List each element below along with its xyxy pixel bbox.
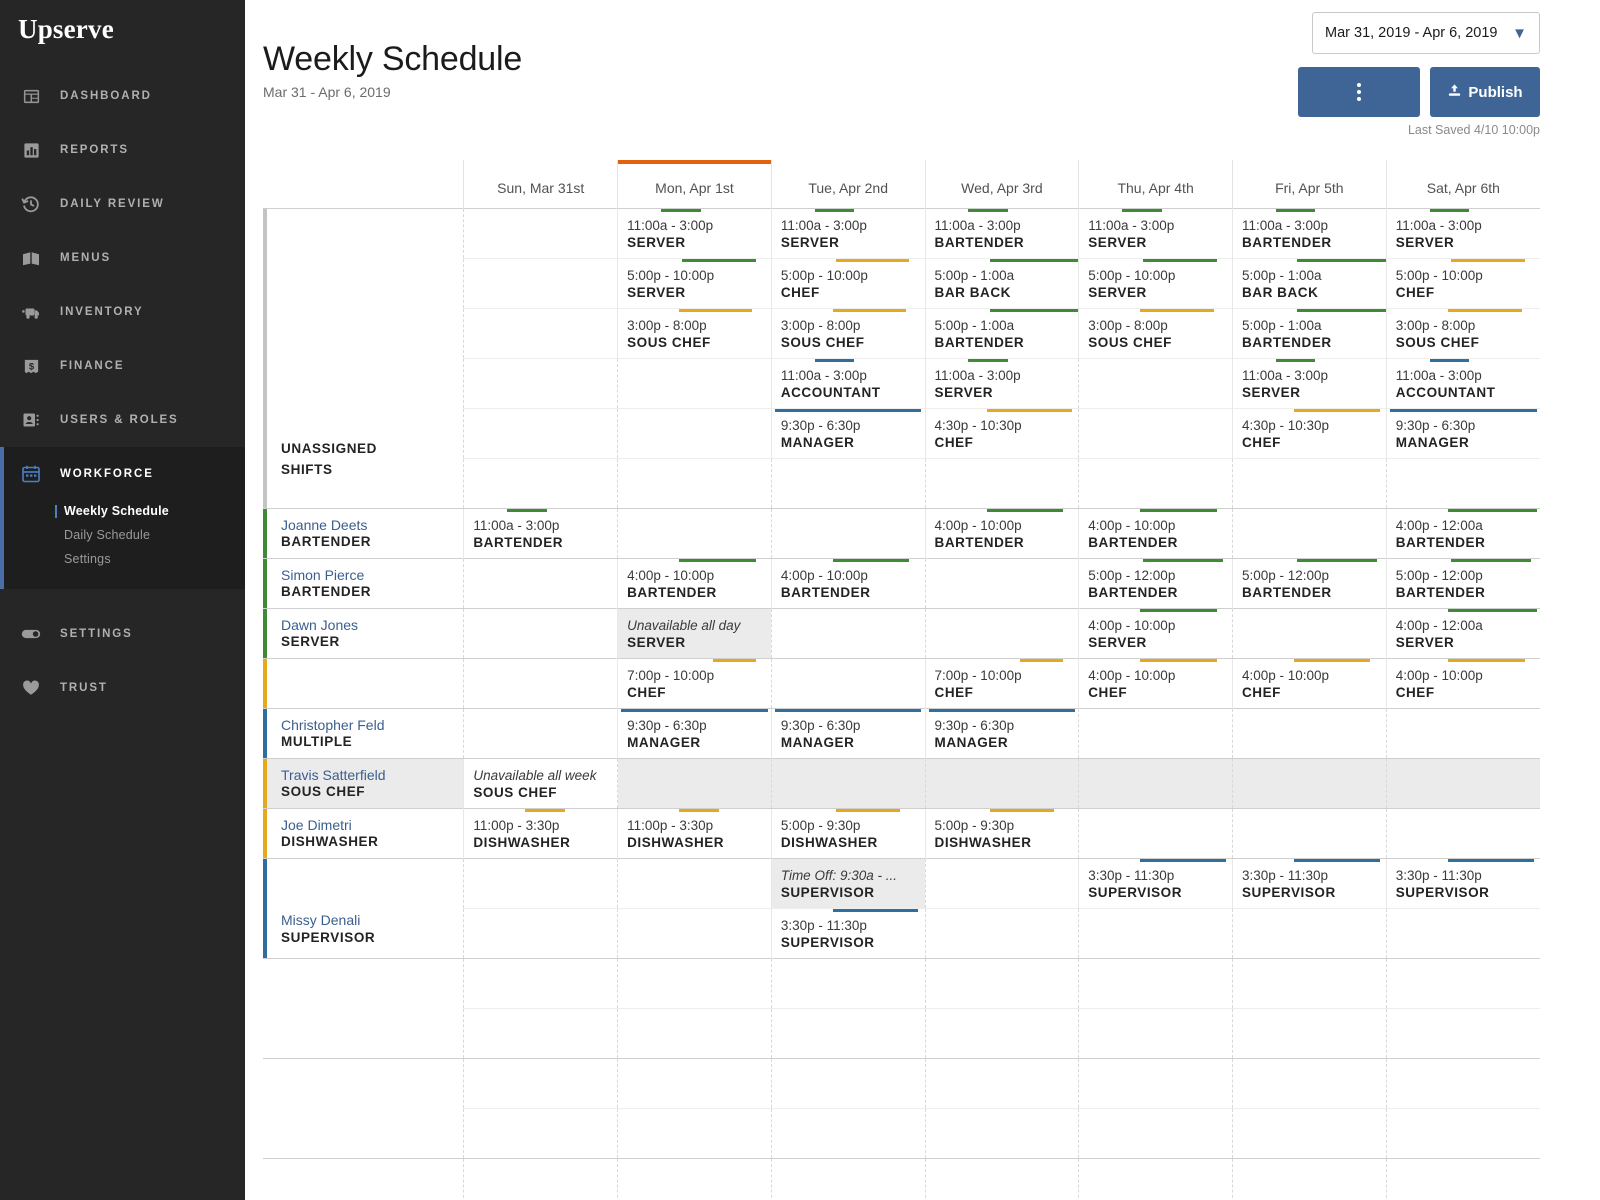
schedule-cell[interactable] <box>925 1158 1079 1200</box>
employee-name[interactable]: Christopher Feld <box>281 717 463 734</box>
schedule-cell[interactable] <box>925 958 1079 1008</box>
employee-name[interactable]: Simon Pierce <box>281 567 463 584</box>
employee-name[interactable]: Travis Satterfield <box>281 767 463 784</box>
empty-cell[interactable] <box>618 759 771 808</box>
empty-cell[interactable] <box>618 959 771 1008</box>
schedule-cell[interactable] <box>1232 708 1386 758</box>
time-off-block[interactable]: Unavailable all weekSOUS CHEF <box>464 759 617 808</box>
schedule-cell[interactable] <box>1079 808 1233 858</box>
schedule-cell[interactable]: 11:00a - 3:00pSERVER <box>1232 358 1386 408</box>
shift-block[interactable]: 7:00p - 10:00pCHEF <box>926 659 1079 708</box>
empty-cell[interactable] <box>1387 1009 1540 1058</box>
schedule-cell[interactable] <box>925 1108 1079 1158</box>
schedule-cell[interactable] <box>1232 808 1386 858</box>
shift-block[interactable]: 4:00p - 10:00pBARTENDER <box>926 509 1079 558</box>
empty-cell[interactable] <box>1387 1109 1540 1158</box>
empty-cell[interactable] <box>1387 1059 1540 1108</box>
shift-block[interactable]: 11:00a - 3:00pBARTENDER <box>1233 209 1386 258</box>
empty-cell[interactable] <box>1233 909 1386 958</box>
schedule-cell[interactable] <box>771 1158 925 1200</box>
shift-block[interactable]: 9:30p - 6:30pMANAGER <box>618 709 771 758</box>
schedule-cell[interactable] <box>464 458 618 508</box>
schedule-cell[interactable]: 5:00p - 1:00aBARTENDER <box>1232 308 1386 358</box>
schedule-cell[interactable] <box>1386 1058 1540 1108</box>
schedule-cell[interactable] <box>464 858 618 908</box>
schedule-cell[interactable] <box>1079 358 1233 408</box>
empty-cell[interactable] <box>926 859 1079 908</box>
empty-cell[interactable] <box>1233 1009 1386 1058</box>
empty-cell[interactable] <box>1079 359 1232 408</box>
schedule-cell[interactable] <box>464 908 618 958</box>
schedule-cell[interactable]: 5:00p - 1:00aBARTENDER <box>925 308 1079 358</box>
shift-block[interactable]: 3:30p - 11:30pSUPERVISOR <box>772 909 925 958</box>
sidebar-item-finance[interactable]: $FINANCE <box>0 339 245 393</box>
schedule-cell[interactable]: 3:30p - 11:30pSUPERVISOR <box>771 908 925 958</box>
shift-block[interactable]: 5:00p - 12:00pBARTENDER <box>1387 559 1540 608</box>
empty-cell[interactable] <box>464 409 617 458</box>
shift-block[interactable]: 11:00a - 3:00pACCOUNTANT <box>772 359 925 408</box>
schedule-cell[interactable] <box>1232 458 1386 508</box>
time-off-block[interactable]: Unavailable all daySERVER <box>618 609 771 658</box>
schedule-cell[interactable]: 4:00p - 10:00pCHEF <box>1079 658 1233 708</box>
sidebar-item-trust[interactable]: TRUST <box>0 661 245 715</box>
empty-cell[interactable] <box>772 959 925 1008</box>
empty-cell[interactable] <box>618 1159 771 1200</box>
schedule-cell[interactable] <box>1079 1058 1233 1108</box>
empty-cell[interactable] <box>464 359 617 408</box>
shift-block[interactable]: 5:00p - 12:00pBARTENDER <box>1233 559 1386 608</box>
schedule-cell[interactable] <box>1079 708 1233 758</box>
schedule-cell[interactable]: 4:30p - 10:30pCHEF <box>925 408 1079 458</box>
sidebar-item-settings[interactable]: SETTINGS <box>0 607 245 661</box>
sidebar-item-dashboard[interactable]: DASHBOARD <box>0 69 245 123</box>
sidebar-item-menus[interactable]: MENUS <box>0 231 245 285</box>
empty-cell[interactable] <box>1233 1059 1386 1108</box>
empty-cell[interactable] <box>464 959 617 1008</box>
empty-cell[interactable] <box>1233 1159 1386 1200</box>
empty-cell[interactable] <box>772 1059 925 1108</box>
schedule-cell[interactable]: 11:00a - 3:00pBARTENDER <box>925 208 1079 258</box>
schedule-cell[interactable] <box>618 458 772 508</box>
date-range-select[interactable]: Mar 31, 2019 - Apr 6, 2019 ▼ <box>1312 12 1540 54</box>
empty-cell[interactable] <box>1079 759 1232 808</box>
schedule-cell[interactable]: 3:00p - 8:00pSOUS CHEF <box>618 308 772 358</box>
empty-cell[interactable] <box>618 1009 771 1058</box>
schedule-cell[interactable]: 11:00a - 3:00pSERVER <box>925 358 1079 408</box>
empty-cell[interactable] <box>1387 909 1540 958</box>
empty-cell[interactable] <box>772 759 925 808</box>
empty-cell[interactable] <box>1233 1109 1386 1158</box>
schedule-cell[interactable] <box>925 458 1079 508</box>
shift-block[interactable]: 5:00p - 1:00aBAR BACK <box>1233 259 1386 308</box>
sidebar-item-daily-review[interactable]: DAILY REVIEW <box>0 177 245 231</box>
schedule-cell[interactable] <box>925 608 1079 658</box>
empty-cell[interactable] <box>1079 1159 1232 1200</box>
shift-block[interactable]: 4:00p - 12:00aBARTENDER <box>1387 509 1540 558</box>
sidebar-item-users-roles[interactable]: USERS & ROLES <box>0 393 245 447</box>
empty-cell[interactable] <box>772 459 925 508</box>
shift-block[interactable]: 4:30p - 10:30pCHEF <box>1233 409 1386 458</box>
schedule-cell[interactable] <box>925 1008 1079 1058</box>
empty-cell[interactable] <box>1387 1159 1540 1200</box>
schedule-cell[interactable]: 9:30p - 6:30pMANAGER <box>925 708 1079 758</box>
schedule-cell[interactable] <box>464 408 618 458</box>
schedule-cell[interactable] <box>1232 1108 1386 1158</box>
empty-cell[interactable] <box>1233 759 1386 808</box>
schedule-cell[interactable]: 5:00p - 10:00pCHEF <box>1386 258 1540 308</box>
publish-button[interactable]: Publish <box>1430 67 1540 117</box>
more-options-button[interactable] <box>1298 67 1420 117</box>
shift-block[interactable]: 9:30p - 6:30pMANAGER <box>772 709 925 758</box>
schedule-cell[interactable]: 5:00p - 9:30pDISHWASHER <box>771 808 925 858</box>
schedule-cell[interactable] <box>1232 608 1386 658</box>
shift-block[interactable]: 4:00p - 10:00pBARTENDER <box>1079 509 1232 558</box>
schedule-cell[interactable] <box>1386 758 1540 808</box>
schedule-cell[interactable] <box>1079 1158 1233 1200</box>
empty-cell[interactable] <box>464 559 617 608</box>
schedule-cell[interactable] <box>1386 1108 1540 1158</box>
schedule-cell[interactable] <box>1232 758 1386 808</box>
shift-block[interactable]: 3:00p - 8:00pSOUS CHEF <box>1387 309 1540 358</box>
empty-cell[interactable] <box>464 1059 617 1108</box>
empty-cell[interactable] <box>772 609 925 658</box>
shift-block[interactable]: 11:00a - 3:00pSERVER <box>772 209 925 258</box>
schedule-cell[interactable] <box>771 758 925 808</box>
schedule-cell[interactable] <box>925 858 1079 908</box>
schedule-cell[interactable]: 11:00a - 3:00pSERVER <box>771 208 925 258</box>
empty-cell[interactable] <box>464 609 617 658</box>
empty-cell[interactable] <box>926 909 1079 958</box>
schedule-cell[interactable] <box>1232 908 1386 958</box>
empty-cell[interactable] <box>772 659 925 708</box>
schedule-cell[interactable] <box>771 958 925 1008</box>
schedule-cell[interactable] <box>618 358 772 408</box>
empty-cell[interactable] <box>618 359 771 408</box>
schedule-cell[interactable] <box>464 1108 618 1158</box>
schedule-cell[interactable] <box>618 908 772 958</box>
employee-name[interactable]: Missy Denali <box>281 912 463 929</box>
shift-block[interactable]: 5:00p - 10:00pCHEF <box>1387 259 1540 308</box>
empty-cell[interactable] <box>772 1159 925 1200</box>
schedule-cell[interactable] <box>464 358 618 408</box>
schedule-cell[interactable]: 9:30p - 6:30pMANAGER <box>771 708 925 758</box>
sidebar-subitem-daily-schedule[interactable]: Daily Schedule <box>64 525 245 549</box>
shift-block[interactable]: 5:00p - 10:00pSERVER <box>618 259 771 308</box>
empty-cell[interactable] <box>772 1009 925 1058</box>
empty-cell[interactable] <box>464 859 617 908</box>
empty-cell[interactable] <box>464 909 617 958</box>
shift-block[interactable]: 5:00p - 1:00aBAR BACK <box>926 259 1079 308</box>
shift-block[interactable]: 4:00p - 10:00pBARTENDER <box>618 559 771 608</box>
shift-block[interactable]: 4:30p - 10:30pCHEF <box>926 409 1079 458</box>
schedule-cell[interactable] <box>464 1008 618 1058</box>
schedule-cell[interactable]: 4:00p - 10:00pSERVER <box>1079 608 1233 658</box>
schedule-cell[interactable] <box>464 708 618 758</box>
schedule-cell[interactable]: 11:00a - 3:00pSERVER <box>618 208 772 258</box>
schedule-cell[interactable] <box>618 858 772 908</box>
schedule-cell[interactable]: 7:00p - 10:00pCHEF <box>925 658 1079 708</box>
shift-block[interactable]: 11:00a - 3:00pSERVER <box>1079 209 1232 258</box>
shift-block[interactable]: 5:00p - 10:00pCHEF <box>772 259 925 308</box>
empty-cell[interactable] <box>926 559 1079 608</box>
schedule-cell[interactable]: 3:30p - 11:30pSUPERVISOR <box>1079 858 1233 908</box>
empty-cell[interactable] <box>464 1009 617 1058</box>
schedule-cell[interactable] <box>618 958 772 1008</box>
schedule-cell[interactable]: 4:30p - 10:30pCHEF <box>1232 408 1386 458</box>
schedule-cell[interactable] <box>771 508 925 558</box>
schedule-cell[interactable] <box>1079 408 1233 458</box>
empty-cell[interactable] <box>1233 959 1386 1008</box>
employee-name[interactable]: Dawn Jones <box>281 617 463 634</box>
schedule-cell[interactable] <box>464 208 618 258</box>
shift-block[interactable]: 3:30p - 11:30pSUPERVISOR <box>1079 859 1232 908</box>
shift-block[interactable]: 11:00a - 3:00pACCOUNTANT <box>1387 359 1540 408</box>
empty-cell[interactable] <box>1079 959 1232 1008</box>
shift-block[interactable]: 11:00a - 3:00pSERVER <box>618 209 771 258</box>
schedule-cell[interactable]: 5:00p - 10:00pSERVER <box>618 258 772 308</box>
schedule-cell[interactable]: 4:00p - 10:00pBARTENDER <box>1079 508 1233 558</box>
empty-cell[interactable] <box>926 959 1079 1008</box>
schedule-cell[interactable] <box>1386 458 1540 508</box>
empty-cell[interactable] <box>618 409 771 458</box>
shift-block[interactable]: 5:00p - 1:00aBARTENDER <box>926 309 1079 358</box>
shift-block[interactable]: 3:00p - 8:00pSOUS CHEF <box>1079 309 1232 358</box>
employee-name[interactable]: Joanne Deets <box>281 517 463 534</box>
shift-block[interactable]: 3:00p - 8:00pSOUS CHEF <box>618 309 771 358</box>
schedule-cell[interactable] <box>1386 1008 1540 1058</box>
shift-block[interactable]: 11:00a - 3:00pSERVER <box>1387 209 1540 258</box>
empty-cell[interactable] <box>926 459 1079 508</box>
schedule-cell[interactable] <box>1232 508 1386 558</box>
workforce-nav-row[interactable]: WORKFORCE <box>4 447 245 501</box>
sidebar-item-reports[interactable]: REPORTS <box>0 123 245 177</box>
empty-cell[interactable] <box>464 309 617 358</box>
schedule-cell[interactable] <box>1386 708 1540 758</box>
empty-cell[interactable] <box>1387 459 1540 508</box>
empty-cell[interactable] <box>926 759 1079 808</box>
schedule-cell[interactable] <box>618 508 772 558</box>
schedule-cell[interactable] <box>464 258 618 308</box>
empty-cell[interactable] <box>1233 509 1386 558</box>
shift-block[interactable]: 5:00p - 9:30pDISHWASHER <box>926 809 1079 858</box>
empty-cell[interactable] <box>926 1059 1079 1108</box>
schedule-cell[interactable] <box>618 758 772 808</box>
empty-cell[interactable] <box>1233 459 1386 508</box>
sidebar-item-workforce[interactable]: WORKFORCE Weekly ScheduleDaily ScheduleS… <box>0 447 245 589</box>
empty-cell[interactable] <box>1079 809 1232 858</box>
schedule-cell[interactable]: 5:00p - 12:00pBARTENDER <box>1079 558 1233 608</box>
schedule-cell[interactable] <box>464 658 618 708</box>
schedule-cell[interactable] <box>464 608 618 658</box>
empty-cell[interactable] <box>926 1159 1079 1200</box>
schedule-cell[interactable]: 5:00p - 1:00aBAR BACK <box>925 258 1079 308</box>
shift-block[interactable]: 4:00p - 10:00pCHEF <box>1233 659 1386 708</box>
schedule-cell[interactable] <box>1386 1158 1540 1200</box>
shift-block[interactable]: 11:00a - 3:00pBARTENDER <box>926 209 1079 258</box>
shift-block[interactable]: 11:00a - 3:00pSERVER <box>926 359 1079 408</box>
sidebar-subitem-weekly-schedule[interactable]: Weekly Schedule <box>64 501 245 525</box>
schedule-cell[interactable]: 11:00a - 3:00pSERVER <box>1079 208 1233 258</box>
empty-cell[interactable] <box>464 259 617 308</box>
schedule-cell[interactable] <box>771 658 925 708</box>
schedule-cell[interactable]: 11:00a - 3:00pACCOUNTANT <box>1386 358 1540 408</box>
schedule-cell[interactable]: 9:30p - 6:30pMANAGER <box>1386 408 1540 458</box>
schedule-cell[interactable]: Unavailable all daySERVER <box>618 608 772 658</box>
schedule-cell[interactable]: 5:00p - 10:00pSERVER <box>1079 258 1233 308</box>
schedule-cell[interactable]: 11:00a - 3:00pBARTENDER <box>464 508 618 558</box>
empty-cell[interactable] <box>1079 409 1232 458</box>
schedule-cell[interactable] <box>464 308 618 358</box>
empty-cell[interactable] <box>1079 1109 1232 1158</box>
empty-cell[interactable] <box>464 1159 617 1200</box>
empty-cell[interactable] <box>464 209 617 258</box>
schedule-cell[interactable]: Time Off: 9:30a - ...SUPERVISOR <box>771 858 925 908</box>
schedule-cell[interactable]: 4:00p - 10:00pBARTENDER <box>925 508 1079 558</box>
sidebar-subitem-settings[interactable]: Settings <box>64 549 245 573</box>
time-off-block[interactable]: Time Off: 9:30a - ...SUPERVISOR <box>772 859 925 908</box>
schedule-cell[interactable] <box>1079 1008 1233 1058</box>
schedule-cell[interactable] <box>1079 958 1233 1008</box>
empty-cell[interactable] <box>1387 759 1540 808</box>
schedule-cell[interactable]: 11:00a - 3:00pBARTENDER <box>1232 208 1386 258</box>
schedule-cell[interactable]: 4:00p - 12:00aBARTENDER <box>1386 508 1540 558</box>
schedule-cell[interactable]: 3:30p - 11:30pSUPERVISOR <box>1232 858 1386 908</box>
shift-block[interactable]: 7:00p - 10:00pCHEF <box>618 659 771 708</box>
empty-cell[interactable] <box>772 1109 925 1158</box>
schedule-cell[interactable]: Unavailable all weekSOUS CHEF <box>464 758 618 808</box>
schedule-cell[interactable] <box>771 1108 925 1158</box>
schedule-cell[interactable]: 11:00a - 3:00pACCOUNTANT <box>771 358 925 408</box>
schedule-cell[interactable]: 3:30p - 11:30pSUPERVISOR <box>1386 858 1540 908</box>
schedule-cell[interactable]: 5:00p - 9:30pDISHWASHER <box>925 808 1079 858</box>
empty-cell[interactable] <box>772 509 925 558</box>
empty-cell[interactable] <box>618 509 771 558</box>
empty-cell[interactable] <box>618 1059 771 1108</box>
schedule-cell[interactable]: 3:00p - 8:00pSOUS CHEF <box>1079 308 1233 358</box>
schedule-cell[interactable]: 4:00p - 10:00pBARTENDER <box>618 558 772 608</box>
empty-cell[interactable] <box>618 909 771 958</box>
schedule-cell[interactable]: 4:00p - 10:00pBARTENDER <box>771 558 925 608</box>
schedule-cell[interactable] <box>464 558 618 608</box>
schedule-cell[interactable]: 9:30p - 6:30pMANAGER <box>618 708 772 758</box>
empty-cell[interactable] <box>1079 1059 1232 1108</box>
empty-cell[interactable] <box>464 459 617 508</box>
empty-cell[interactable] <box>618 459 771 508</box>
empty-cell[interactable] <box>1233 709 1386 758</box>
shift-block[interactable]: 11:00a - 3:00pBARTENDER <box>464 509 617 558</box>
schedule-cell[interactable] <box>1079 908 1233 958</box>
empty-cell[interactable] <box>618 859 771 908</box>
shift-block[interactable]: 11:00a - 3:00pSERVER <box>1233 359 1386 408</box>
empty-cell[interactable] <box>464 1109 617 1158</box>
schedule-cell[interactable] <box>925 758 1079 808</box>
schedule-cell[interactable] <box>1386 958 1540 1008</box>
schedule-cell[interactable] <box>1232 1058 1386 1108</box>
shift-block[interactable]: 11:00p - 3:30pDISHWASHER <box>464 809 617 858</box>
schedule-cell[interactable]: 11:00a - 3:00pSERVER <box>1386 208 1540 258</box>
schedule-cell[interactable] <box>925 558 1079 608</box>
schedule-cell[interactable] <box>464 958 618 1008</box>
schedule-cell[interactable]: 5:00p - 12:00pBARTENDER <box>1232 558 1386 608</box>
schedule-cell[interactable] <box>1232 958 1386 1008</box>
schedule-cell[interactable]: 5:00p - 12:00pBARTENDER <box>1386 558 1540 608</box>
schedule-cell[interactable] <box>1232 1008 1386 1058</box>
shift-block[interactable]: 9:30p - 6:30pMANAGER <box>1387 409 1540 458</box>
empty-cell[interactable] <box>1079 1009 1232 1058</box>
schedule-cell[interactable] <box>1232 1158 1386 1200</box>
empty-cell[interactable] <box>1079 709 1232 758</box>
schedule-cell[interactable] <box>1386 908 1540 958</box>
empty-cell[interactable] <box>1079 459 1232 508</box>
empty-cell[interactable] <box>618 1109 771 1158</box>
shift-block[interactable]: 5:00p - 12:00pBARTENDER <box>1079 559 1232 608</box>
schedule-cell[interactable] <box>1079 1108 1233 1158</box>
empty-cell[interactable] <box>1387 809 1540 858</box>
schedule-cell[interactable]: 3:00p - 8:00pSOUS CHEF <box>771 308 925 358</box>
shift-block[interactable]: 9:30p - 6:30pMANAGER <box>772 409 925 458</box>
schedule-cell[interactable]: 11:00p - 3:30pDISHWASHER <box>618 808 772 858</box>
schedule-cell[interactable] <box>618 1108 772 1158</box>
schedule-cell[interactable] <box>618 1058 772 1108</box>
empty-cell[interactable] <box>464 709 617 758</box>
schedule-cell[interactable] <box>618 1158 772 1200</box>
schedule-cell[interactable] <box>925 1058 1079 1108</box>
shift-block[interactable]: 9:30p - 6:30pMANAGER <box>926 709 1079 758</box>
schedule-cell[interactable]: 11:00p - 3:30pDISHWASHER <box>464 808 618 858</box>
schedule-cell[interactable]: 4:00p - 12:00aSERVER <box>1386 608 1540 658</box>
shift-block[interactable]: 4:00p - 10:00pCHEF <box>1079 659 1232 708</box>
schedule-cell[interactable]: 3:00p - 8:00pSOUS CHEF <box>1386 308 1540 358</box>
schedule-cell[interactable]: 5:00p - 10:00pCHEF <box>771 258 925 308</box>
shift-block[interactable]: 4:00p - 12:00aSERVER <box>1387 609 1540 658</box>
empty-cell[interactable] <box>1079 909 1232 958</box>
schedule-cell[interactable] <box>925 908 1079 958</box>
shift-block[interactable]: 11:00p - 3:30pDISHWASHER <box>618 809 771 858</box>
schedule-cell[interactable]: 9:30p - 6:30pMANAGER <box>771 408 925 458</box>
schedule-cell[interactable] <box>771 1058 925 1108</box>
schedule-cell[interactable]: 5:00p - 1:00aBAR BACK <box>1232 258 1386 308</box>
empty-cell[interactable] <box>1387 959 1540 1008</box>
shift-block[interactable]: 4:00p - 10:00pSERVER <box>1079 609 1232 658</box>
schedule-cell[interactable]: 7:00p - 10:00pCHEF <box>618 658 772 708</box>
shift-block[interactable]: 3:30p - 11:30pSUPERVISOR <box>1233 859 1386 908</box>
schedule-cell[interactable] <box>1079 758 1233 808</box>
schedule-cell[interactable] <box>1386 808 1540 858</box>
schedule-cell[interactable]: 4:00p - 10:00pCHEF <box>1232 658 1386 708</box>
sidebar-item-inventory[interactable]: INVENTORY <box>0 285 245 339</box>
schedule-cell[interactable] <box>464 1058 618 1108</box>
empty-cell[interactable] <box>926 1009 1079 1058</box>
shift-block[interactable]: 3:00p - 8:00pSOUS CHEF <box>772 309 925 358</box>
schedule-cell[interactable] <box>618 1008 772 1058</box>
shift-block[interactable]: 5:00p - 9:30pDISHWASHER <box>772 809 925 858</box>
empty-cell[interactable] <box>1233 609 1386 658</box>
empty-cell[interactable] <box>926 1109 1079 1158</box>
empty-cell[interactable] <box>464 659 617 708</box>
schedule-cell[interactable]: 4:00p - 10:00pCHEF <box>1386 658 1540 708</box>
empty-cell[interactable] <box>1233 809 1386 858</box>
shift-block[interactable]: 3:30p - 11:30pSUPERVISOR <box>1387 859 1540 908</box>
schedule-cell[interactable] <box>771 458 925 508</box>
shift-block[interactable]: 5:00p - 10:00pSERVER <box>1079 259 1232 308</box>
schedule-cell[interactable] <box>1079 458 1233 508</box>
schedule-cell[interactable] <box>464 1158 618 1200</box>
schedule-cell[interactable] <box>618 408 772 458</box>
empty-cell[interactable] <box>926 609 1079 658</box>
schedule-cell[interactable] <box>771 608 925 658</box>
shift-block[interactable]: 4:00p - 10:00pCHEF <box>1387 659 1540 708</box>
shift-block[interactable]: 5:00p - 1:00aBARTENDER <box>1233 309 1386 358</box>
